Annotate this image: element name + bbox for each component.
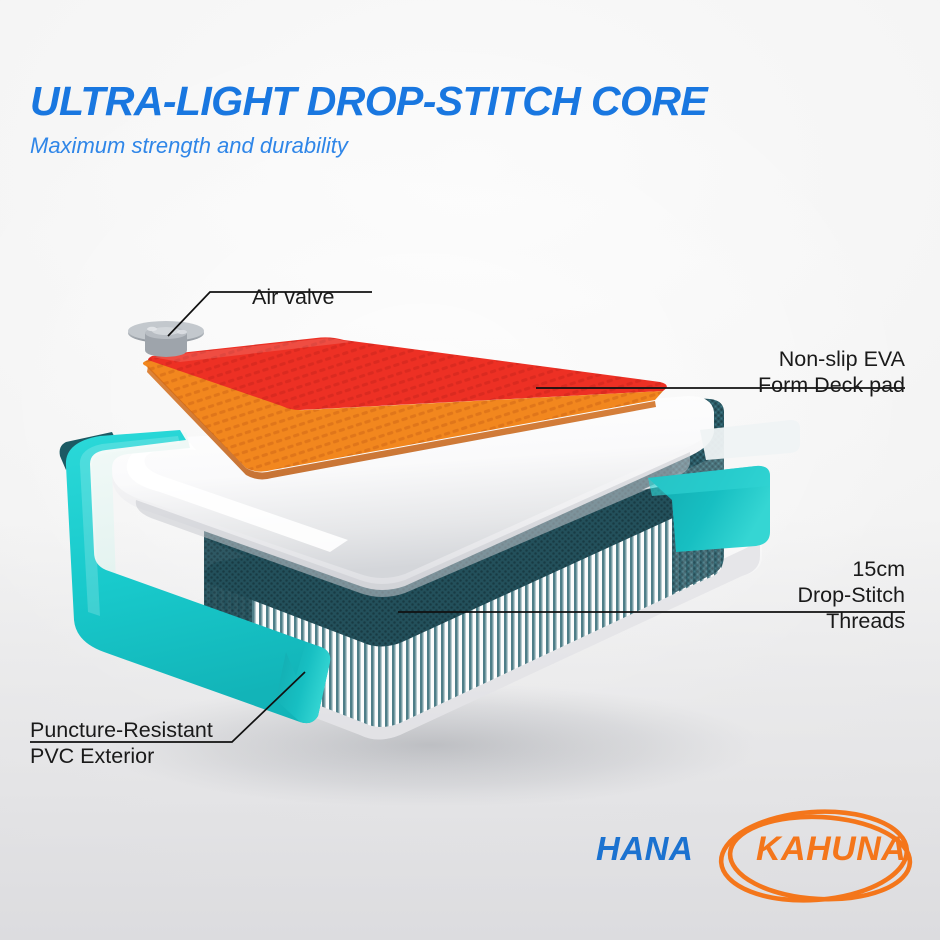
page-title: ULTRA-LIGHT DROP-STITCH CORE [30, 78, 890, 124]
callout-air-valve-text: Air valve [252, 284, 334, 310]
callout-pvc-exterior: Puncture-Resistant PVC Exterior [30, 691, 213, 795]
callout-pvc-text: Puncture-Resistant PVC Exterior [30, 717, 213, 769]
header-block: ULTRA-LIGHT DROP-STITCH CORE Maximum str… [30, 78, 890, 159]
callout-threads-text: 15cm Drop-Stitch Threads [797, 556, 905, 634]
page-subtitle: Maximum strength and durability [30, 133, 890, 159]
brand-logo: HANA KAHUNA [596, 804, 916, 912]
callout-deck-pad-text: Non-slip EVA Form Deck pad [758, 346, 905, 398]
logo-word-hana: HANA [596, 830, 693, 868]
callout-drop-stitch-threads: 15cm Drop-Stitch Threads [797, 530, 905, 660]
callout-deck-pad: Non-slip EVA Form Deck pad [758, 320, 905, 424]
logo-word-kahuna: KAHUNA [756, 830, 906, 869]
infographic-canvas: ULTRA-LIGHT DROP-STITCH CORE Maximum str… [0, 0, 940, 940]
callout-air-valve: Air valve [252, 258, 334, 336]
